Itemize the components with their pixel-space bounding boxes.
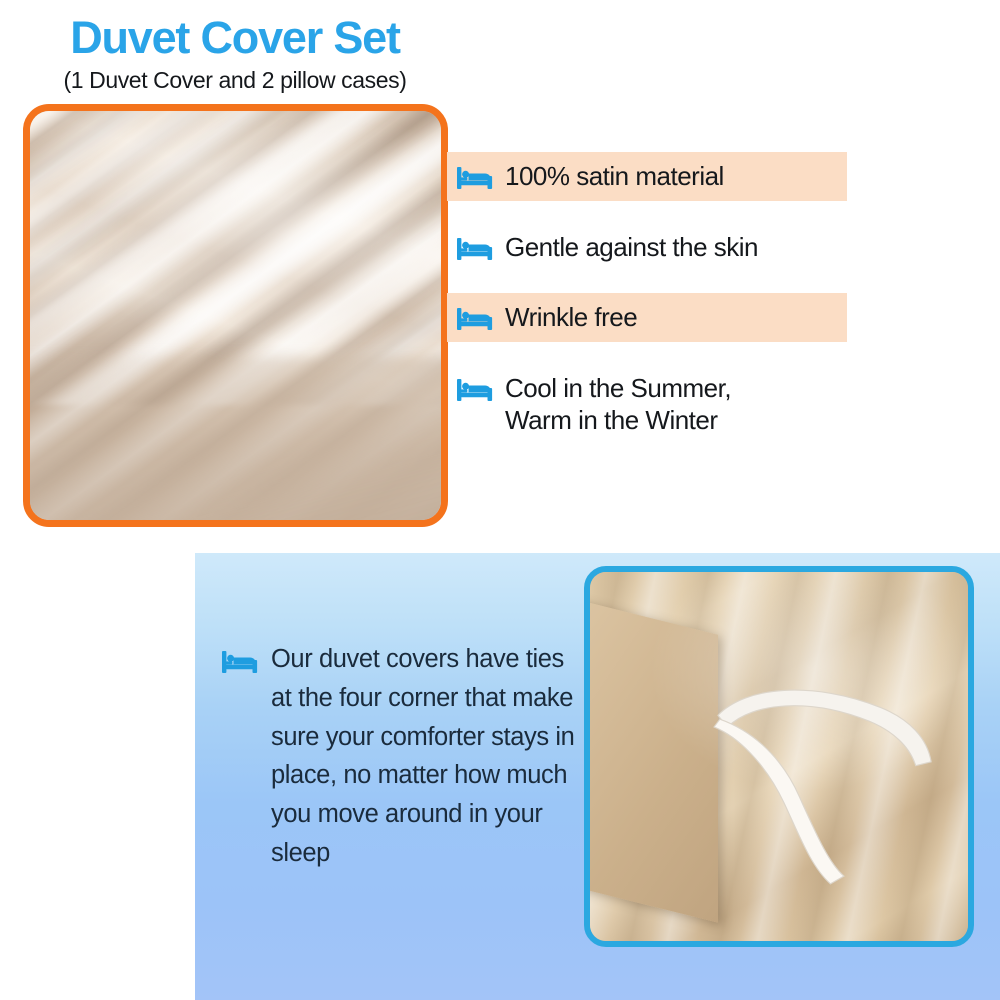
- feature-item-temperature: Cool in the Summer, Warm in the Winter: [447, 364, 847, 445]
- page-title: Duvet Cover Set: [0, 0, 470, 61]
- duvet-ties-photo: [584, 566, 974, 947]
- feature-label: Gentle against the skin: [505, 231, 758, 264]
- bed-icon: [457, 305, 493, 331]
- satin-sheen-overlay: [30, 111, 441, 520]
- satin-fabric-photo: [23, 104, 448, 527]
- bed-icon: [457, 235, 493, 261]
- feature-label: 100% satin material: [505, 160, 724, 193]
- feature-label: Wrinkle free: [505, 301, 637, 334]
- feature-list: 100% satin material Gentle against the s…: [447, 152, 847, 467]
- ties-description-text: Our duvet covers have ties at the four c…: [271, 640, 582, 873]
- duvet-ties-image: [590, 572, 968, 941]
- feature-item-gentle-skin: Gentle against the skin: [447, 223, 847, 272]
- bed-icon: [222, 648, 258, 674]
- satin-fabric-image: [30, 111, 441, 520]
- feature-item-satin-material: 100% satin material: [447, 152, 847, 201]
- page-subtitle: (1 Duvet Cover and 2 pillow cases): [0, 61, 470, 95]
- ties-description-block: Our duvet covers have ties at the four c…: [222, 640, 582, 873]
- feature-label: Cool in the Summer, Warm in the Winter: [505, 372, 731, 437]
- white-ribbon-ties: [590, 572, 968, 941]
- bed-icon: [457, 376, 493, 402]
- bed-icon: [457, 164, 493, 190]
- header: Duvet Cover Set (1 Duvet Cover and 2 pil…: [0, 0, 470, 95]
- feature-item-wrinkle-free: Wrinkle free: [447, 293, 847, 342]
